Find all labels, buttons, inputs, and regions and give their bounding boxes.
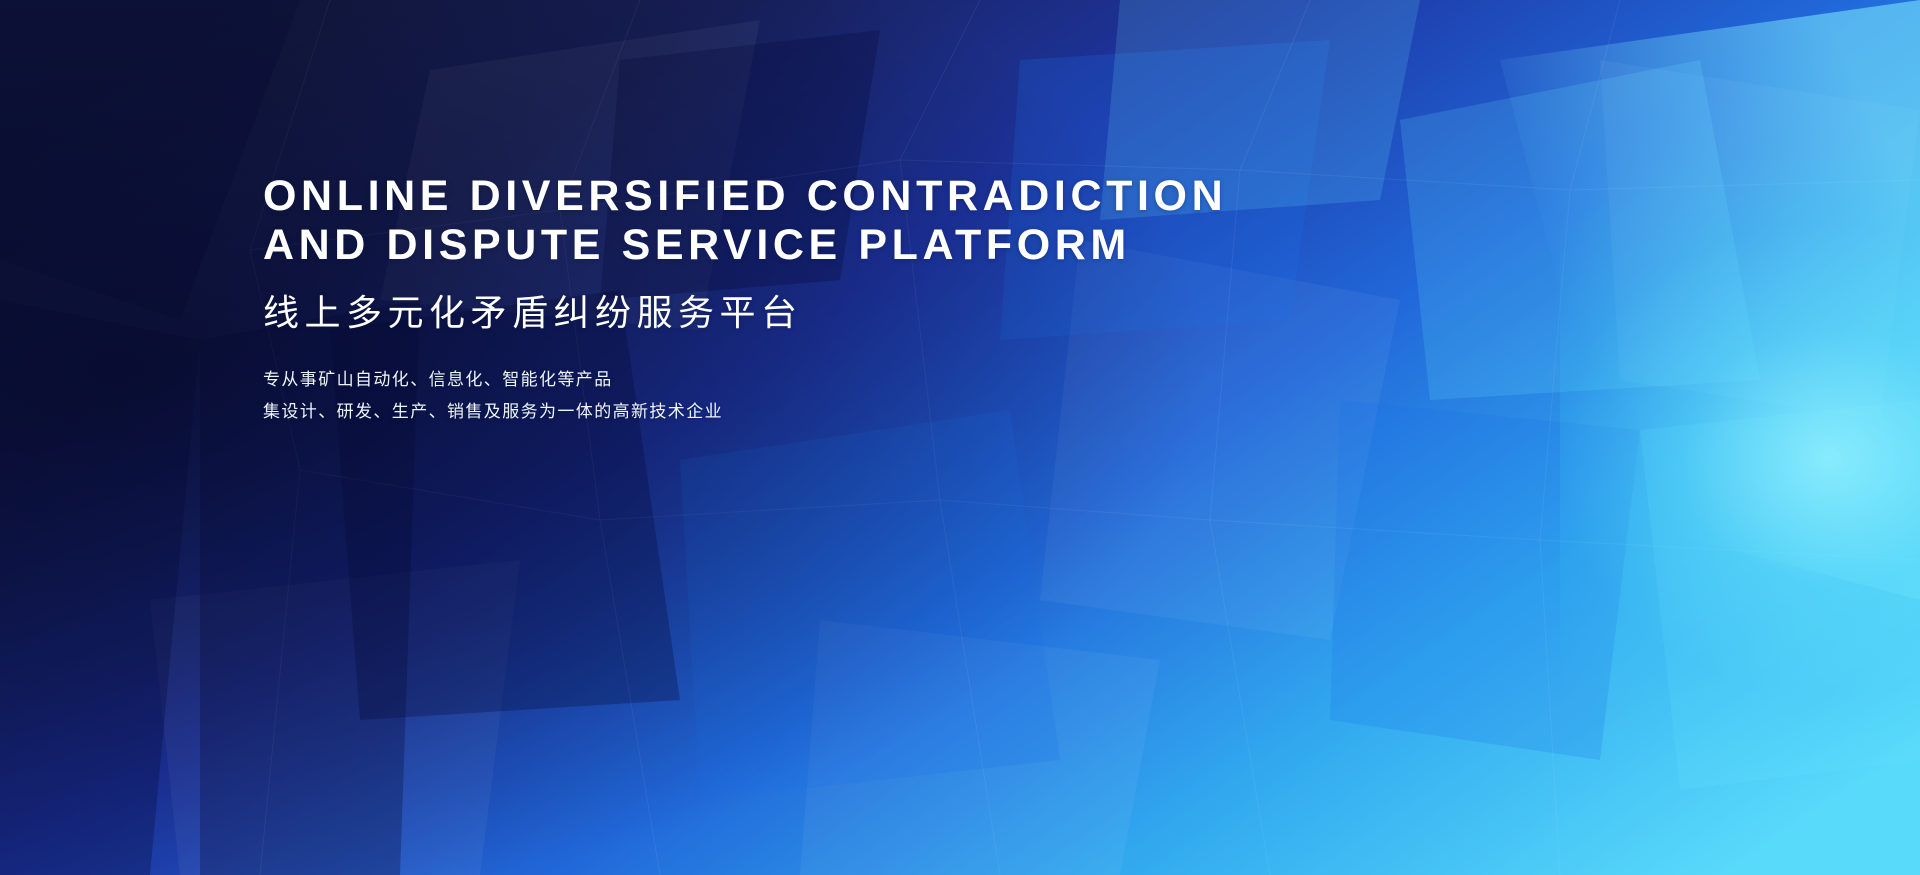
hero-banner: ONLINE DIVERSIFIED CONTRADICTION AND DIS…: [0, 0, 1920, 875]
headline-line-2: AND DISPUTE SERVICE PLATFORM: [263, 221, 1463, 270]
subtitle-chinese: 线上多元化矛盾纠纷服务平台: [263, 292, 1463, 334]
description-line-2: 集设计、研发、生产、销售及服务为一体的高新技术企业: [263, 396, 1463, 428]
description-block: 专从事矿山自动化、信息化、智能化等产品 集设计、研发、生产、销售及服务为一体的高…: [263, 364, 1463, 428]
headline-line-1: ONLINE DIVERSIFIED CONTRADICTION: [263, 172, 1463, 221]
low-poly-background: [0, 0, 1920, 875]
banner-content: ONLINE DIVERSIFIED CONTRADICTION AND DIS…: [263, 172, 1463, 428]
description-line-1: 专从事矿山自动化、信息化、智能化等产品: [263, 364, 1463, 396]
